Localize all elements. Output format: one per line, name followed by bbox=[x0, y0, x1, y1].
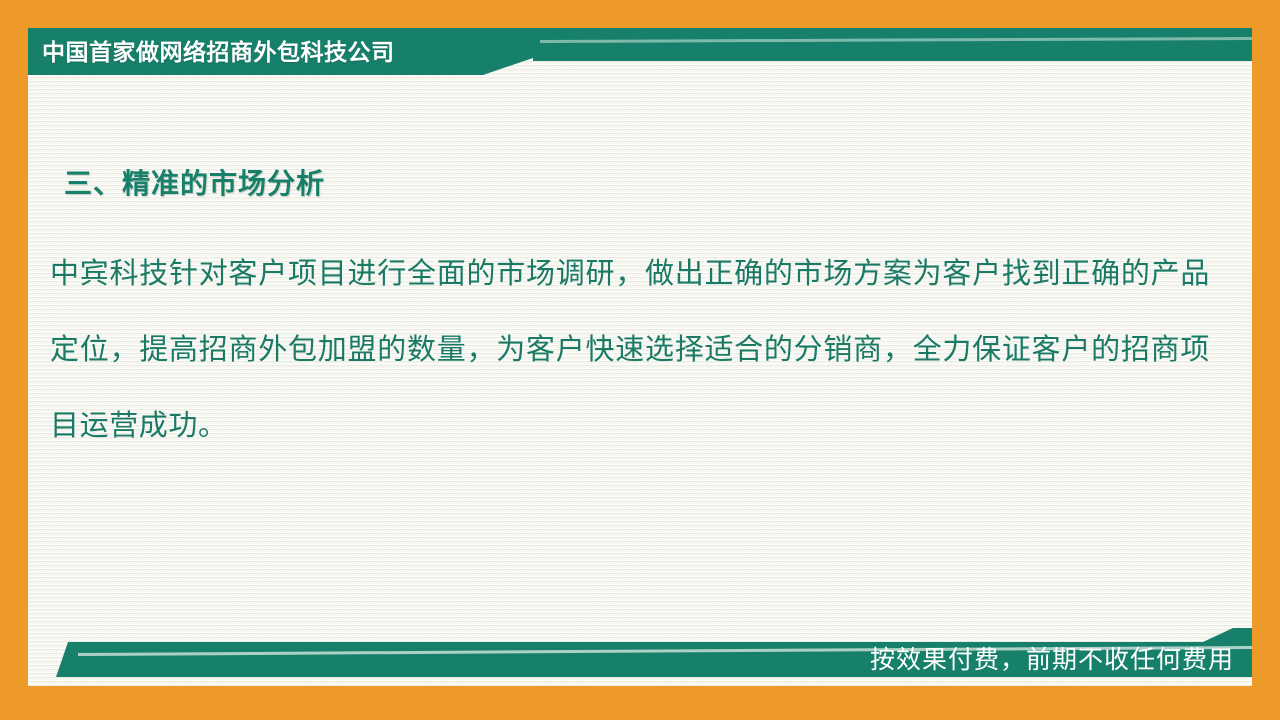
slide-content-panel: 中国首家做网络招商外包科技公司 三、精准的市场分析 中宾科技针对客户项目进行全面… bbox=[28, 28, 1252, 686]
header-title: 中国首家做网络招商外包科技公司 bbox=[42, 37, 395, 67]
slide-canvas: 中国首家做网络招商外包科技公司 三、精准的市场分析 中宾科技针对客户项目进行全面… bbox=[0, 0, 1280, 720]
footer-banner: 按效果付费，前期不收任何费用 bbox=[28, 620, 1252, 686]
header-banner: 中国首家做网络招商外包科技公司 bbox=[28, 28, 1252, 86]
body-paragraph: 中宾科技针对客户项目进行全面的市场调研，做出正确的市场方案为客户找到正确的产品定… bbox=[50, 236, 1210, 464]
section-heading: 三、精准的市场分析 bbox=[64, 162, 325, 202]
footer-slogan: 按效果付费，前期不收任何费用 bbox=[870, 644, 1234, 676]
